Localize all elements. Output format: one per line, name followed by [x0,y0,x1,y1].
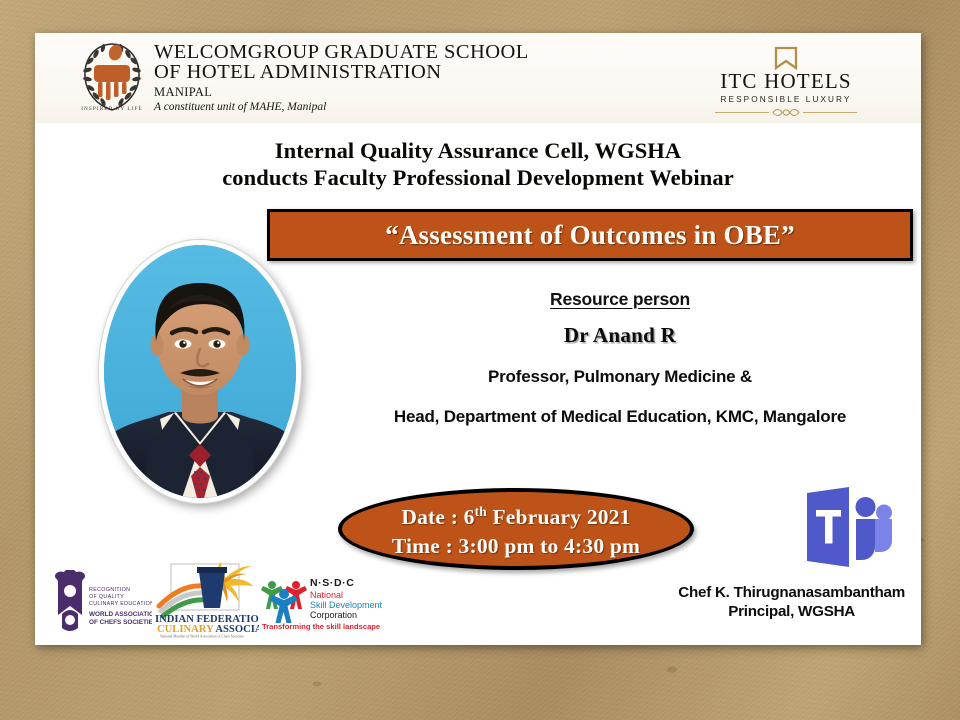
wacs-line1: RECOGNITION [89,587,130,593]
resource-person-name: Dr Anand R [325,323,915,348]
itc-bookmark-icon [773,46,799,70]
nsdc-line2: Skill Development [310,600,383,610]
itc-hotels-tagline: RESPONSIBLE LUXURY [711,95,861,104]
wacs-line3: CULINARY EDUCATION [89,601,152,607]
nsdc-line1: National [310,590,343,600]
date-time-badge: Date : 6th February 2021 Time : 3:00 pm … [338,488,694,570]
event-date-ordinal: th [475,504,487,519]
resource-person-role-line2: Head, Department of Medical Education, K… [325,407,915,427]
itc-hotels-name: ITC HOTELS [711,71,861,92]
wacs-line5: OF CHEFS SOCIETIES [89,619,152,626]
wgsha-campus: MANIPAL [154,85,529,100]
itc-hotels-logo: ITC HOTELS RESPONSIBLE LUXURY [711,46,861,123]
itc-flourish-icon [711,107,861,118]
wgsha-emblem-icon: INSPIRED BY LIFE [79,37,145,117]
webinar-title-banner: “Assessment of Outcomes in OBE” [267,209,913,261]
nsdc-emblem-icon: N·S·D·C National Skill Development Corpo… [260,573,388,631]
event-time: Time : 3:00 pm to 4:30 pm [392,532,640,561]
wacs-line2: OF QUALITY [89,594,124,600]
wacs-emblem-icon: RECOGNITION OF QUALITY CULINARY EDUCATIO… [40,570,152,632]
webinar-title: “Assessment of Outcomes in OBE” [385,220,795,251]
event-poster: INSPIRED BY LIFE WELCOMGROUP GRADUATE SC… [35,33,921,645]
wgsha-affiliation: A constituent unit of MAHE, Manipal [154,101,529,113]
nsdc-acronym: N·S·D·C [310,577,354,589]
nsdc-line3: Corporation [310,610,357,620]
ifca-emblem-icon: INDIAN FEDERATION OF CULINARY ASSOCIATIO… [155,562,259,638]
nsdc-tagline: Transforming the skill landscape [262,622,380,631]
speaker-portrait-avatar [99,240,301,503]
wgsha-institution-logo: INSPIRED BY LIFE WELCOMGROUP GRADUATE SC… [79,37,529,117]
event-date: Date : 6th February 2021 [401,497,630,532]
resource-person-role-line1: Professor, Pulmonary Medicine & [325,367,915,387]
wgsha-motto-text: INSPIRED BY LIFE [81,106,143,112]
ifca-line3: National Member of World Association of … [160,634,244,638]
event-date-prefix: Date : 6 [401,505,474,529]
subheading-line2: conducts Faculty Professional Developmen… [35,164,921,191]
speaker-photo-illustration [104,245,296,498]
ifca-logo: INDIAN FEDERATION OF CULINARY ASSOCIATIO… [155,562,259,643]
resource-person-label: Resource person [325,289,915,310]
signatory-designation: Principal, WGSHA [678,602,905,621]
nsdc-logo: N·S·D·C National Skill Development Corpo… [260,573,388,636]
wgsha-wordmark: WELCOMGROUP GRADUATE SCHOOL OF HOTEL ADM… [154,37,529,113]
event-date-suffix: February 2021 [487,505,631,529]
event-subheading: Internal Quality Assurance Cell, WGSHA c… [35,137,921,191]
wgsha-name-line1: WELCOMGROUP GRADUATE SCHOOL [154,42,529,62]
wgsha-name-line2: OF HOTEL ADMINISTRATION [154,62,529,82]
poster-header: INSPIRED BY LIFE WELCOMGROUP GRADUATE SC… [35,33,921,123]
wacs-logo: RECOGNITION OF QUALITY CULINARY EDUCATIO… [40,570,152,637]
signatory-name: Chef K. Thirugnanasambantham [678,583,905,602]
microsoft-teams-icon [802,485,892,569]
wacs-line4: WORLD ASSOCIATION [89,611,152,618]
signature-block: Chef K. Thirugnanasambantham Principal, … [678,583,905,621]
resource-person-block: Resource person Dr Anand R Professor, Pu… [325,289,915,427]
ifca-line2: CULINARY ASSOCIATIONS [157,624,259,635]
subheading-line1: Internal Quality Assurance Cell, WGSHA [35,137,921,164]
